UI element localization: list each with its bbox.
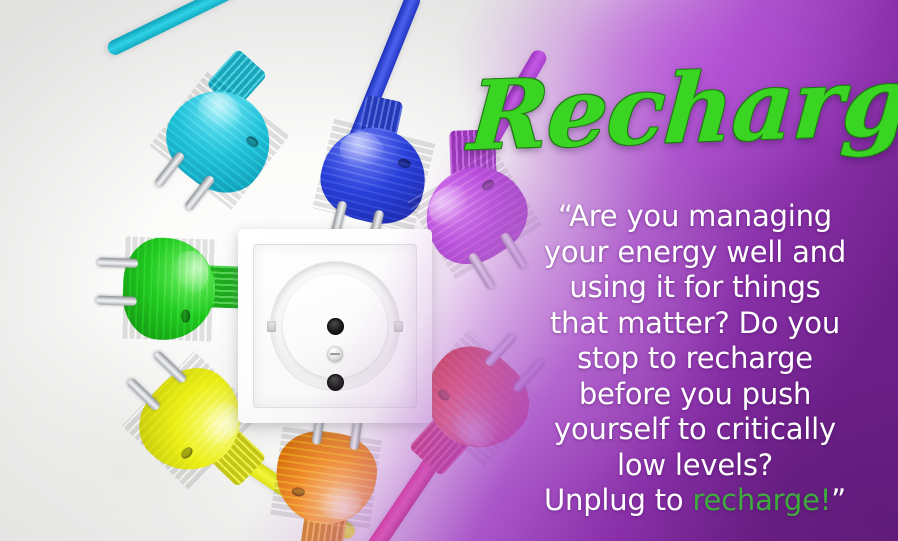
poster-canvas: Recharge “Are you managing your energy w… [0,0,898,541]
socket-earth-clip-left [267,321,276,332]
wall-socket [238,229,432,423]
quote-line-4: that matter? Do you [498,306,892,342]
quote-line-1: “Are you managing [498,199,892,235]
plug-green [121,236,217,341]
quote-final-highlight: recharge! [692,483,831,517]
quote-line-7: yourself to critically [498,412,892,448]
socket-recess [271,262,399,390]
plug-orange [270,425,382,530]
quote-final-suffix: ” [831,483,846,517]
quote-line-9: Unplug to recharge!” [498,483,892,519]
plug-pin-green-1 [98,258,138,268]
socket-hole-top [327,318,344,335]
quote-line-2: your energy well and [498,235,892,271]
plug-pin-green-2 [96,295,136,305]
socket-earth-clip-right [394,321,403,332]
quote-line-6: before you push [498,377,892,413]
socket-face [283,274,387,378]
quote-line-5: stop to recharge [498,341,892,377]
quote-block: “Are you managing your energy well and u… [498,199,892,519]
socket-hole-bottom [327,374,344,391]
socket-screw [327,346,343,362]
quote-line-3: using it for things [498,270,892,306]
page-title: Recharge [465,45,894,176]
quote-line-8: low levels? [498,448,892,484]
quote-final-prefix: Unplug to [544,483,692,517]
